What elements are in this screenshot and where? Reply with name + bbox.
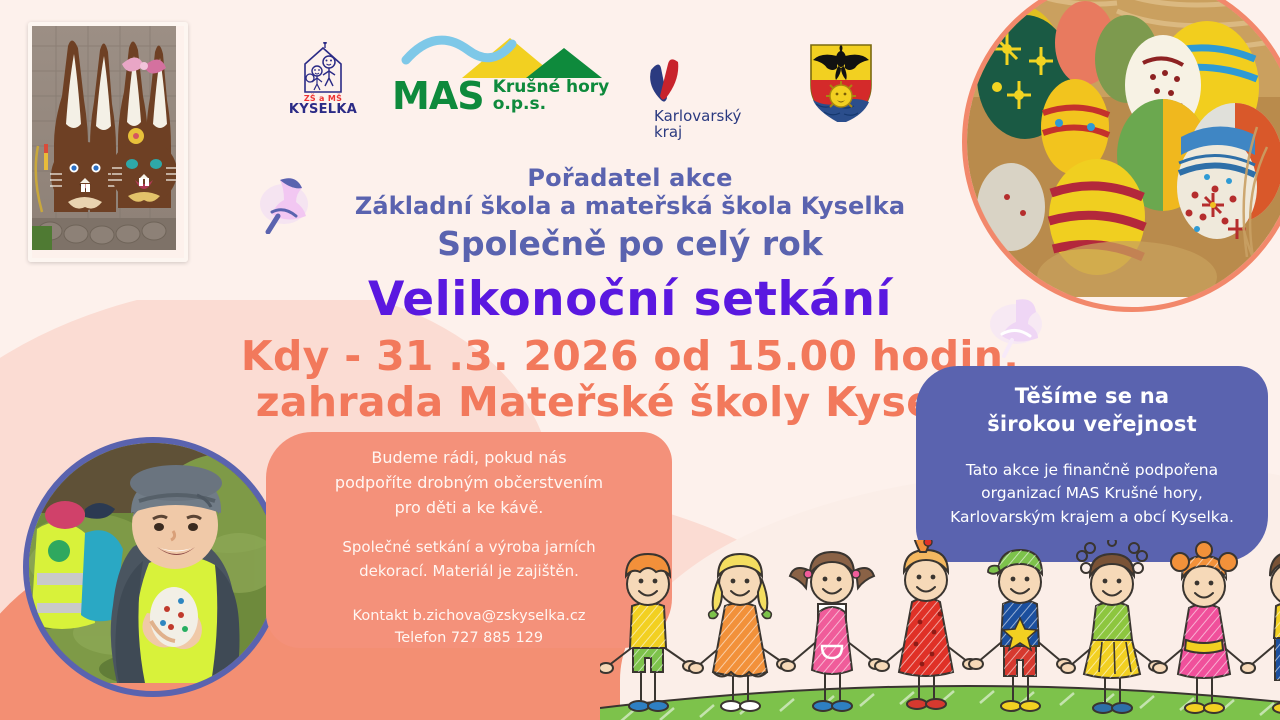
logo-zs-line2: KYSELKA — [288, 103, 358, 117]
karlovarsky-kraj-mark-icon — [648, 58, 682, 104]
funding-line2: organizací MAS Krušné hory, — [936, 482, 1248, 506]
event-when: Kdy - 31 .3. 2026 od 15.00 hodin, — [230, 334, 1030, 380]
photo-wooden-bunnies — [28, 22, 188, 262]
contact-block: Kontakt b.zichova@zskyselka.cz Telefon 7… — [288, 605, 650, 650]
logo-kk-text: Karlovarský kraj — [654, 108, 741, 140]
school-name: Základní škola a mateřská škola Kyselka — [230, 192, 1030, 220]
activity-description: Společné setkání a výroba jarních dekora… — [288, 536, 650, 583]
welcome-title: Těšíme se na širokou veřejnost — [936, 382, 1248, 439]
logo-mas-sub-line2: o.p.s. — [493, 96, 610, 113]
activity-line2: dekorací. Materiál je zajištěn. — [288, 560, 650, 583]
poster-canvas: ZŠ a MŠ KYSELKA MAS Krušné hory o.p.s. — [0, 0, 1280, 720]
school-house-icon — [295, 42, 351, 94]
logo-mas-krusne-hory: MAS Krušné hory o.p.s. — [392, 34, 622, 114]
photo-child-with-egg — [23, 437, 283, 697]
logo-coat-of-arms — [808, 42, 874, 126]
refreshments-request: Budeme rádi, pokud nás podpoříte drobným… — [288, 446, 650, 520]
logo-mas-word: MAS — [392, 78, 484, 114]
children-holding-hands-icon — [600, 540, 1280, 720]
logo-zs-ms-kyselka: ZŠ a MŠ KYSELKA — [288, 42, 358, 117]
coat-of-arms-icon — [808, 42, 874, 122]
welcome-line1: Těšíme se na — [936, 382, 1248, 410]
refreshments-line1: Budeme rádi, pokud nás — [288, 446, 650, 471]
event-title: Velikonoční setkání — [230, 272, 1030, 328]
logo-row: ZŠ a MŠ KYSELKA MAS Krušné hory o.p.s. — [280, 30, 900, 140]
wooden-bunnies-illustration — [32, 26, 176, 250]
children-illustration — [600, 540, 1280, 720]
logo-mas-subtext: Krušné hory o.p.s. — [493, 79, 610, 114]
organiser-label: Pořadatel akce — [230, 164, 1030, 192]
event-where: zahrada Mateřské školy Kyselka — [230, 380, 1030, 426]
funding-line1: Tato akce je finančně podpořena — [936, 459, 1248, 483]
headline-block: Pořadatel akce Základní škola a mateřská… — [230, 164, 1030, 426]
info-box-blue: Těšíme se na širokou veřejnost Tato akce… — [916, 366, 1268, 562]
activity-line1: Společné setkání a výroba jarních — [288, 536, 650, 559]
refreshments-line3: pro děti a ke kávě. — [288, 496, 650, 521]
logo-karlovarsky-kraj: Karlovarský kraj — [648, 58, 778, 140]
logo-kk-line2: kraj — [654, 124, 741, 140]
contact-phone[interactable]: Telefon 727 885 129 — [288, 627, 650, 649]
logo-kk-line1: Karlovarský — [654, 108, 741, 124]
funding-line3: Karlovarským krajem a obcí Kyselka. — [936, 506, 1248, 530]
funding-note: Tato akce je finančně podpořena organiza… — [936, 459, 1248, 530]
child-with-egg-illustration — [29, 443, 269, 683]
project-motto: Společně po celý rok — [230, 224, 1030, 264]
refreshments-line2: podpoříte drobným občerstvením — [288, 471, 650, 496]
welcome-line2: širokou veřejnost — [936, 410, 1248, 438]
contact-email[interactable]: Kontakt b.zichova@zskyselka.cz — [288, 605, 650, 627]
